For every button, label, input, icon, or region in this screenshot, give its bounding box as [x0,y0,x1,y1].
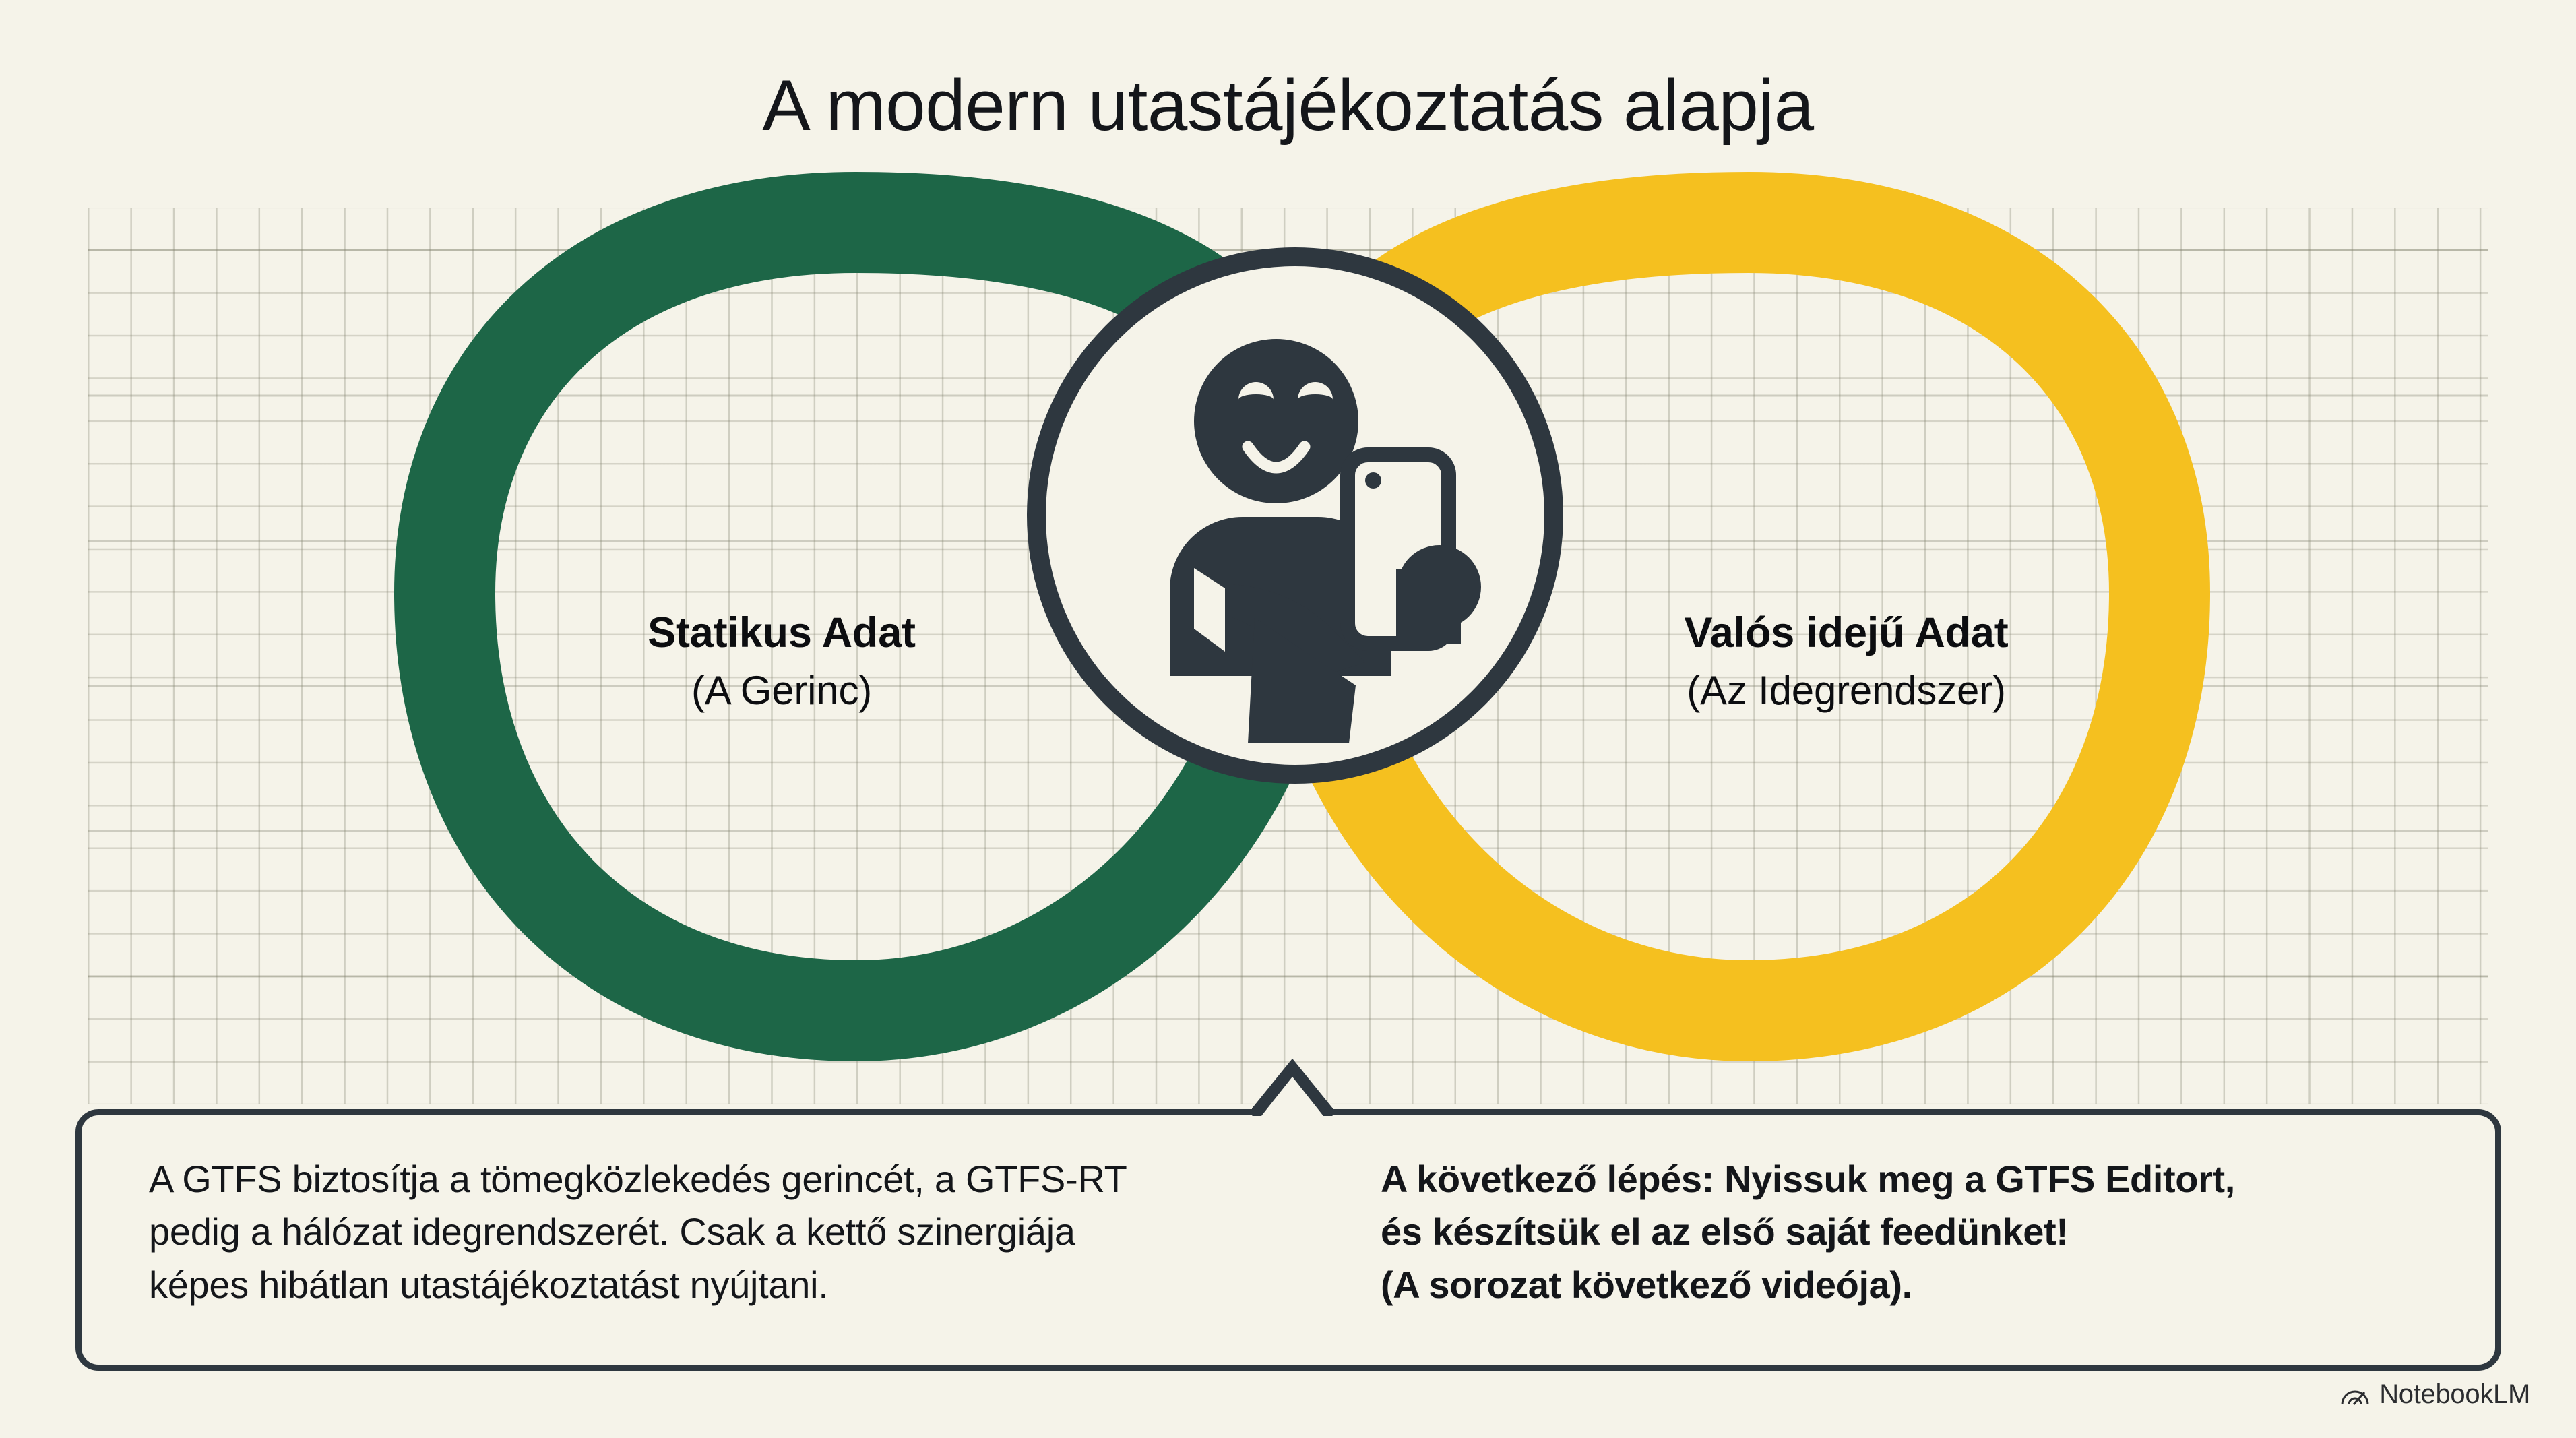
callout-right-line-1: A következő lépés: Nyissuk meg a GTFS Ed… [1381,1153,2448,1206]
infographic-canvas: A modern utastájékoztatás alapja [0,0,2576,1438]
notebooklm-label: NotebookLM [2379,1379,2530,1410]
callout-description-text: A GTFS biztosítja a tömegközlekedés geri… [149,1153,1355,1311]
right-loop-label: Valós idejű Adat (Az Idegrendszer) [1570,606,2123,716]
left-loop-label: Statikus Adat (A Gerinc) [546,606,1017,716]
callout-box: A GTFS biztosítja a tömegközlekedés geri… [75,1109,2501,1371]
callout-right-line-3: (A sorozat következő videója). [1381,1259,2448,1311]
notebooklm-watermark: NotebookLM [2340,1379,2530,1410]
left-loop-label-main: Statikus Adat [546,606,1017,660]
callout-left-line-1: A GTFS biztosítja a tömegközlekedés geri… [149,1153,1355,1206]
callout-left-line-3: képes hibátlan utastájékoztatást nyújtan… [149,1259,1355,1311]
right-loop-label-sub: (Az Idegrendszer) [1570,665,2123,716]
callout-next-step-text: A következő lépés: Nyissuk meg a GTFS Ed… [1355,1153,2448,1311]
callout-left-line-2: pedig a hálózat idegrendszerét. Csak a k… [149,1206,1355,1258]
left-loop-label-sub: (A Gerinc) [546,665,1017,716]
callout-right-line-2: és készítsük el az első saját feedünket! [1381,1206,2448,1258]
right-loop-label-main: Valós idejű Adat [1570,606,2123,660]
infinity-loop-diagram [0,0,2576,1146]
notebooklm-logo-icon [2340,1383,2370,1406]
